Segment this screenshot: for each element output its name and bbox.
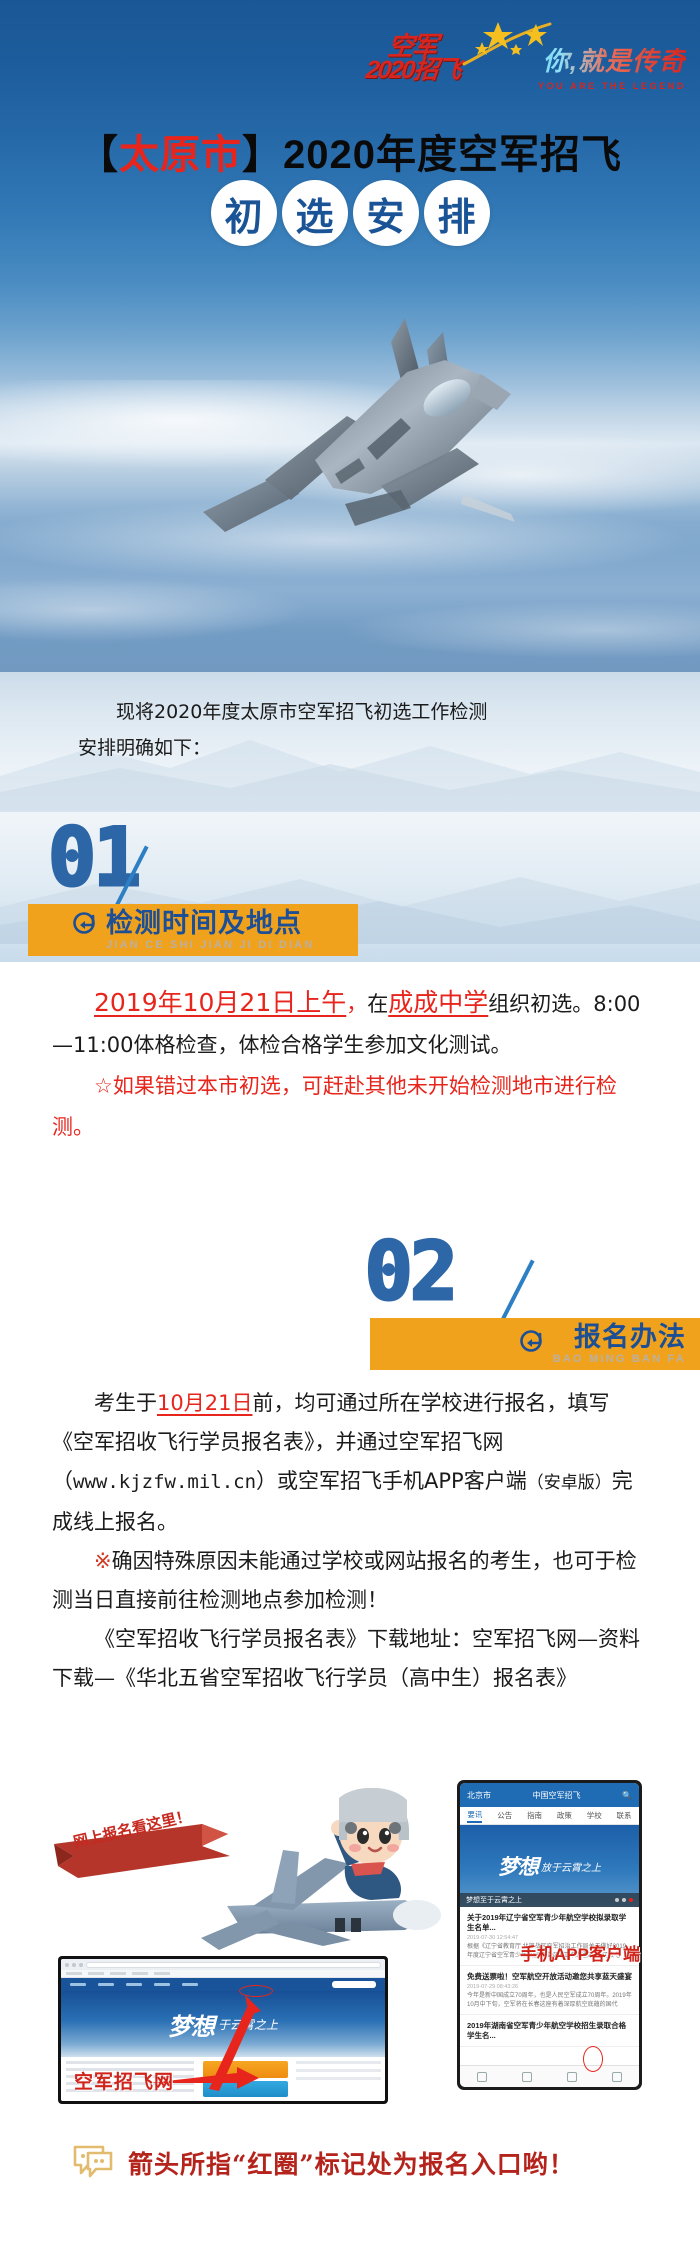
phone-bottom-nav: [460, 2065, 639, 2087]
registration-paragraph-2: ※确因特殊原因未能通过学校或网站报名的考生，也可于检测当日直接前往检测地点参加检…: [52, 1542, 648, 1620]
site-search-input[interactable]: [332, 1981, 376, 1988]
registration-deadline: 10月21日: [157, 1391, 252, 1415]
bookmark-item[interactable]: [110, 1972, 126, 1975]
app-client-label: 手机APP客户端: [520, 1940, 640, 1965]
section-01-header: 01 检测时间及地点 JIAN CE SHI JIAN JI DI DIAN: [0, 812, 700, 962]
chat-bubble-icon: [72, 2143, 114, 2183]
subtitle-char-2: 选: [282, 180, 348, 246]
phone-tab-3[interactable]: 政策: [557, 1810, 572, 1821]
website-mockup: 梦想 于云霄之上: [58, 1956, 388, 2104]
phone-hero-main: 梦想: [498, 1851, 538, 1881]
phone-tab-bar: 要讯 公告 指南 政策 学校 联系: [460, 1807, 639, 1825]
intro-text: 现将2020年度太原市空军招飞初选工作检测 安排明确如下：: [78, 694, 638, 766]
registration-paragraph-1: 考生于10月21日前，均可通过所在学校进行报名，填写《空军招收飞行学员报名表》，…: [52, 1384, 648, 1542]
phone-news-summary: 今年是新中国成立70周年，也是人民空军成立70周年。2019年10月中下旬，空军…: [467, 1992, 632, 2009]
slogan-en: YOU ARE THE LEGEND: [511, 81, 686, 91]
phone-site-title: 中国空军招飞: [533, 1790, 581, 1801]
intro-line-2: 安排明确如下：: [78, 730, 638, 766]
registration-paragraph-3: 《空军招收飞行学员报名表》下载地址：空军招飞网—资料下载—《华北五省空军招收飞行…: [52, 1620, 648, 1698]
phone-city-label[interactable]: 北京市: [467, 1790, 491, 1801]
reg-p2-text: 确因特殊原因未能通过学校或网站报名的考生，也可于检测当日直接前往检测地点参加检测…: [52, 1549, 637, 1612]
section-02-bar: 报名办法 BAO MING BAN FA: [370, 1318, 700, 1370]
section-02-labels: 报名办法 BAO MING BAN FA: [553, 1323, 700, 1364]
link-line: [296, 2077, 381, 2080]
browser-forward-icon[interactable]: [72, 1963, 76, 1967]
section-02-body: 考生于10月21日前，均可通过所在学校进行报名，填写《空军招收飞行学员报名表》，…: [0, 1384, 700, 1698]
section-01-note: ☆如果错过本市初选，可赶赴其他未开始检测地市进行检测。: [52, 1066, 648, 1148]
section-01-title: 检测时间及地点: [106, 909, 315, 937]
section-02-title: 报名办法: [574, 1323, 686, 1351]
detection-location: 成成中学: [388, 988, 488, 1017]
bookmark-item[interactable]: [66, 1972, 82, 1975]
site-links-column: [292, 2057, 385, 2101]
recruit-website-url[interactable]: www.kjzfw.mil.cn: [73, 1471, 256, 1493]
intro-line-1: 现将2020年度太原市空军招飞初选工作检测: [78, 694, 638, 730]
phone-hero-caption: 梦想至于云霄之上: [466, 1895, 522, 1905]
phone-tab-0[interactable]: 要讯: [467, 1809, 482, 1823]
section-01-bar: 检测时间及地点 JIAN CE SHI JIAN JI DI DIAN: [28, 904, 358, 956]
reg-p1-a: 考生于: [94, 1391, 157, 1415]
bookmark-item[interactable]: [88, 1972, 104, 1975]
asterisk-mark: ※: [94, 1549, 112, 1573]
phone-news-item[interactable]: 2019年湖南省空军青少年航空学校招生录取合格学生名...: [460, 2015, 639, 2047]
media-section: 网上报名看这里！: [0, 1788, 700, 2118]
phone-search-icon[interactable]: 🔍: [622, 1791, 632, 1800]
intro-section: 现将2020年度太原市空军招飞初选工作检测 安排明确如下：: [0, 672, 700, 812]
phone-news-item[interactable]: 免费送票啦！空军航空开放活动邀您共享蓝天盛宴 2019-07-29 08:43:…: [460, 1966, 639, 2015]
title-city: 太原市: [119, 133, 242, 177]
site-nav-item[interactable]: [126, 1983, 142, 1986]
browser-reload-icon[interactable]: [79, 1963, 83, 1967]
website-label: 空军招飞网: [74, 2067, 174, 2094]
subtitle-char-4: 排: [424, 180, 490, 246]
phone-nav-list-icon[interactable]: [522, 2072, 532, 2082]
section-02-header: 02 报名办法 BAO MING BAN FA: [0, 1226, 700, 1376]
phone-hero-banner: 梦想 放于云霄之上 梦想至于云霄之上: [460, 1825, 639, 1907]
section-01-body: 2019年10月21日上午，在成成中学组织初选。8:00—11:00体格检查，体…: [0, 968, 700, 1148]
phone-hero-sub: 放于云霄之上: [541, 1859, 601, 1874]
phone-nav-user-icon[interactable]: [612, 2072, 622, 2082]
title-bracket-open: 【: [78, 133, 119, 177]
section-02-pinyin: BAO MING BAN FA: [553, 1353, 686, 1365]
dot-2: [622, 1898, 626, 1902]
title-rest: 2020年度空军招飞: [283, 133, 622, 177]
browser-toolbar: [61, 1959, 385, 1970]
phone-tab-5[interactable]: 联系: [617, 1810, 632, 1821]
subtitle-circles: 初 选 安 排: [0, 180, 700, 246]
slogan-block: 你,就是传奇 YOU ARE THE LEGEND: [511, 48, 686, 91]
subtitle-char-3: 安: [353, 180, 419, 246]
pilot-mascot-illustration: [175, 1788, 455, 1973]
section-01-pinyin: JIAN CE SHI JIAN JI DI DIAN: [106, 939, 315, 951]
jet-illustration: [195, 298, 525, 548]
browser-bookmarks-bar: [61, 1970, 385, 1978]
hero-banner: 空军 2020招飞 你,就是传奇 YOU ARE THE LEGEND 【太原市…: [0, 0, 700, 672]
section-01-labels: 检测时间及地点 JIAN CE SHI JIAN JI DI DIAN: [28, 909, 315, 950]
section-number-02: 02: [365, 1232, 455, 1312]
mobile-app-mockup: 北京市 中国空军招飞 🔍 要讯 公告 指南 政策 学校 联系 梦想 放于云霄之上: [457, 1780, 642, 2090]
detection-date: 2019年10月21日上午: [94, 988, 346, 1017]
bookmark-item[interactable]: [154, 1972, 170, 1975]
phone-tab-2[interactable]: 指南: [527, 1810, 542, 1821]
at-word: 在: [367, 992, 388, 1016]
title-bracket-close: 】: [242, 133, 283, 177]
phone-news-date: 2019-07-29 08:43:26: [467, 1984, 632, 1990]
android-note: （安卓版）: [527, 1473, 612, 1493]
link-line: [296, 2061, 381, 2064]
subtitle-char-1: 初: [211, 180, 277, 246]
reg-p1-c: ）或空军招飞手机APP客户端: [256, 1469, 527, 1493]
page-title: 【太原市】2020年度空军招飞: [0, 122, 700, 180]
red-circle-marker-phone: [583, 2046, 603, 2072]
phone-nav-register-icon[interactable]: [567, 2072, 577, 2082]
phone-app-header: 北京市 中国空军招飞 🔍: [460, 1783, 639, 1807]
fighter-jet-photo: [0, 268, 700, 598]
logo-line-2: 2020招飞: [364, 50, 461, 86]
poster-root: 空军 2020招飞 你,就是传奇 YOU ARE THE LEGEND 【太原市…: [0, 0, 700, 2246]
site-nav-item[interactable]: [70, 1983, 86, 1986]
dot-3-active: [629, 1898, 633, 1902]
footer-text: 箭头所指“红圈”标记处为报名入口哟！: [128, 2145, 575, 2181]
air-force-recruit-logo: 空军 2020招飞 你,就是传奇 YOU ARE THE LEGEND: [366, 22, 686, 104]
link-line: [296, 2069, 381, 2072]
target-arrow-icon-2: [519, 1328, 545, 1354]
phone-tab-4[interactable]: 学校: [587, 1810, 602, 1821]
slogan-cn: 你,就是传奇: [511, 48, 686, 74]
phone-carousel-dots[interactable]: [615, 1898, 633, 1902]
browser-url-bar[interactable]: [86, 1962, 381, 1968]
date-comma: ，: [346, 992, 367, 1016]
footer-note: 箭头所指“红圈”标记处为报名入口哟！: [0, 2118, 700, 2208]
section-01-paragraph: 2019年10月21日上午，在成成中学组织初选。8:00—11:00体格检查，体…: [52, 982, 648, 1066]
phone-nav-home-icon[interactable]: [477, 2072, 487, 2082]
phone-tab-1[interactable]: 公告: [497, 1810, 512, 1821]
bookmark-item[interactable]: [132, 1972, 148, 1975]
phone-news-title: 2019年湖南省空军青少年航空学校招生录取合格学生名...: [467, 2021, 632, 2041]
browser-back-icon[interactable]: [65, 1963, 69, 1967]
phone-news-title: 关于2019年辽宁省空军青少年航空学校拟录取学生名单...: [467, 1913, 632, 1933]
site-nav-item[interactable]: [98, 1983, 114, 1986]
phone-hero-caption-bar: 梦想至于云霄之上: [460, 1893, 639, 1907]
phone-screen: 北京市 中国空军招飞 🔍 要讯 公告 指南 政策 学校 联系 梦想 放于云霄之上: [460, 1783, 639, 2087]
dot-1: [615, 1898, 619, 1902]
phone-news-title: 免费送票啦！空军航空开放活动邀您共享蓝天盛宴: [467, 1972, 632, 1982]
